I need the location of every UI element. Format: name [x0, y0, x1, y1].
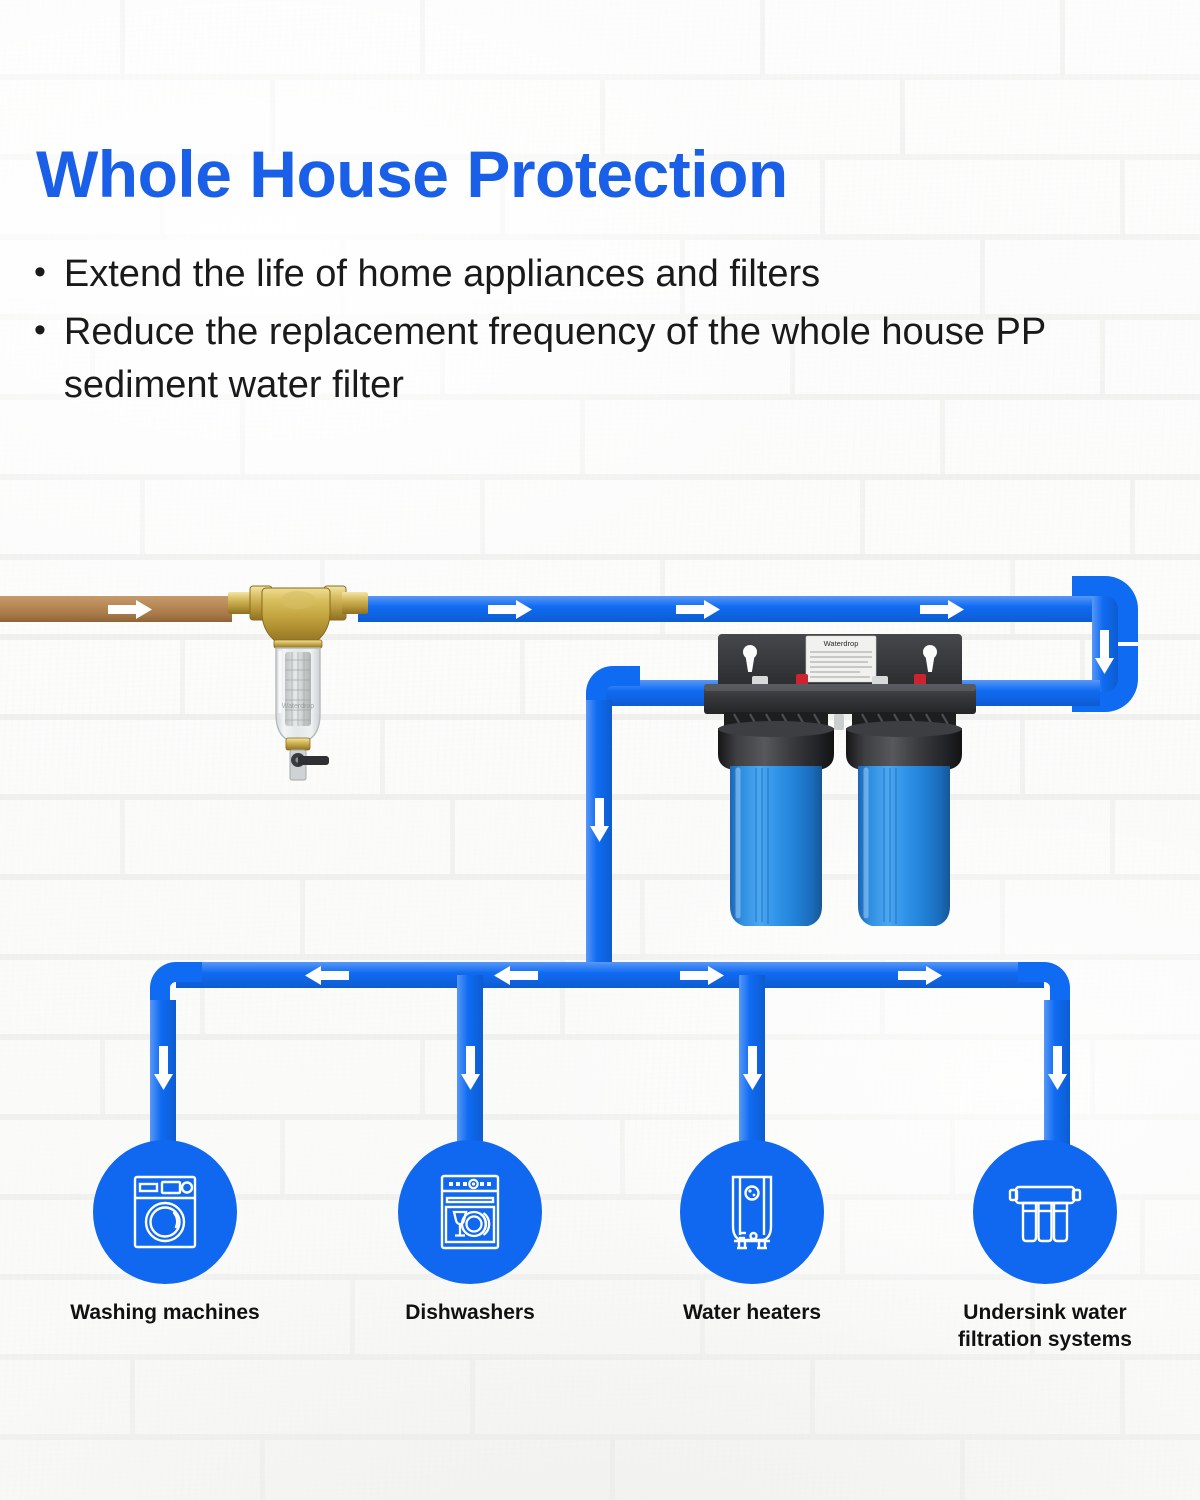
undersink-filtration-icon	[1002, 1169, 1088, 1255]
infographic-canvas: Whole House Protection • Extend the life…	[0, 0, 1200, 1500]
list-item: • Reduce the replacement frequency of th…	[34, 306, 1174, 411]
appliance-circle-washing-machines[interactable]	[93, 1140, 237, 1284]
branch-down-3-icon	[743, 1046, 762, 1090]
inlet-arrow-icon	[108, 600, 152, 619]
riser-down-arrow-icon	[590, 798, 609, 842]
manifold-arrow-right-2-icon	[898, 966, 942, 985]
bullet-text: Extend the life of home appliances and f…	[64, 248, 1174, 300]
washing-machine-icon	[122, 1169, 208, 1255]
bullet-text: Reduce the replacement frequency of the …	[64, 306, 1174, 411]
benefit-bullet-list: • Extend the life of home appliances and…	[34, 248, 1174, 417]
top-arrow-3-icon	[920, 600, 964, 619]
branch-down-1-icon	[154, 1046, 173, 1090]
right-down-arrow-icon	[1095, 630, 1114, 674]
svg-text:Waterdrop: Waterdrop	[282, 703, 315, 710]
dishwasher-icon	[427, 1169, 513, 1255]
page-title: Whole House Protection	[36, 140, 1156, 209]
unit-brand-label: Waterdrop	[824, 639, 859, 648]
branch-down-2-icon	[461, 1046, 480, 1090]
list-item: • Extend the life of home appliances and…	[34, 248, 1174, 300]
appliance-label-undersink-filtration: Undersink water filtration systems	[925, 1300, 1165, 1354]
manifold-arrow-right-1-icon	[680, 966, 724, 985]
appliance-label-dishwashers: Dishwashers	[350, 1300, 590, 1327]
appliance-circle-water-heaters[interactable]	[680, 1140, 824, 1284]
whole-house-filter-unit: Waterdrop	[700, 632, 980, 942]
top-arrow-1-icon	[488, 600, 532, 619]
appliance-circle-undersink-filtration[interactable]	[973, 1140, 1117, 1284]
branch-down-4-icon	[1048, 1046, 1067, 1090]
bullet-marker-icon: •	[34, 248, 46, 297]
appliance-label-washing-machines: Washing machines	[45, 1300, 285, 1327]
bullet-marker-icon: •	[34, 306, 46, 355]
top-arrow-2-icon	[676, 600, 720, 619]
manifold-arrow-left-2-icon	[494, 966, 538, 985]
spin-down-prefilter: Waterdrop	[228, 580, 368, 800]
pipe-top-horizontal	[358, 596, 1118, 622]
manifold-arrow-left-1-icon	[305, 966, 349, 985]
appliance-circle-dishwashers[interactable]	[398, 1140, 542, 1284]
water-heater-icon	[709, 1169, 795, 1255]
appliance-label-water-heaters: Water heaters	[632, 1300, 872, 1327]
